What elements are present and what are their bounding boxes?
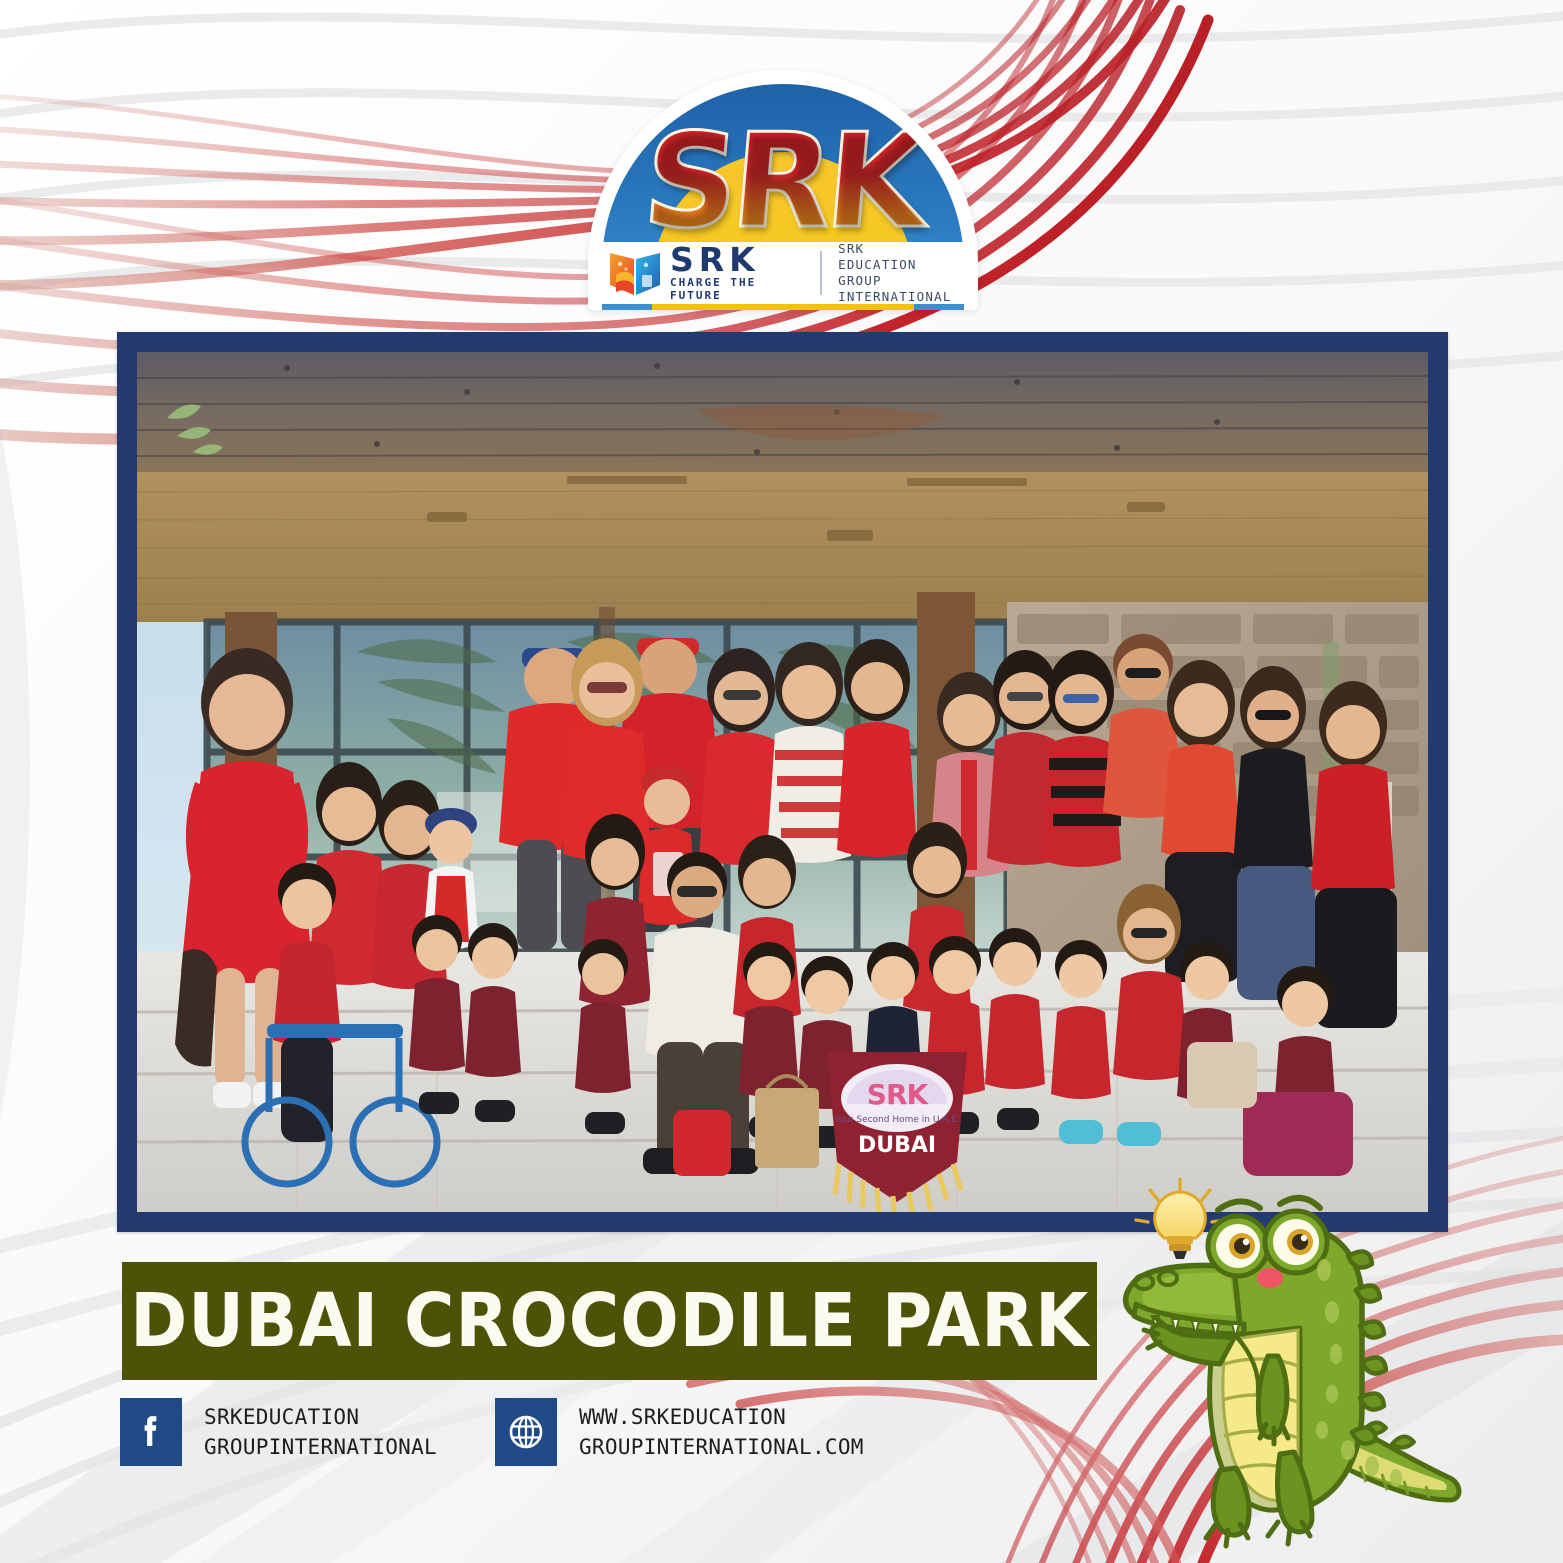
facebook-handle-line1: SRKEDUCATION xyxy=(204,1405,359,1429)
logo-small-wordmark: SRK xyxy=(670,245,804,275)
photo-frame: SRK Your Second Home in U.A.E. DUBAI xyxy=(117,332,1448,1232)
crocodile-mascot xyxy=(1110,1178,1510,1563)
page-title: DUBAI CROCODILE PARK xyxy=(130,1278,1089,1364)
facebook-handle-line2: GROUPINTERNATIONAL xyxy=(204,1435,437,1459)
logo-wordmark: SRK xyxy=(602,106,964,256)
logo-org-line-3: INTERNATIONAL xyxy=(838,289,958,305)
facebook-handle: SRKEDUCATIONGROUPINTERNATIONAL xyxy=(204,1402,437,1462)
poster-canvas: SRK xyxy=(0,0,1563,1563)
title-banner: DUBAI CROCODILE PARK xyxy=(122,1262,1097,1380)
facebook-icon[interactable] xyxy=(120,1398,182,1466)
logo-divider xyxy=(820,251,822,295)
logo-tagline: CHARGE THE FUTURE xyxy=(670,276,804,302)
facebook-contact[interactable]: SRKEDUCATIONGROUPINTERNATIONAL xyxy=(120,1398,437,1466)
logo-org-line-1: SRK xyxy=(838,241,958,257)
website-contact[interactable]: WWW.SRKEDUCATIONGROUPINTERNATIONAL.COM xyxy=(495,1398,864,1466)
globe-icon[interactable] xyxy=(495,1398,557,1466)
footer-contacts: SRKEDUCATIONGROUPINTERNATIONAL WWW.SRKED… xyxy=(120,1398,864,1466)
logo-strip: SRK CHARGE THE FUTURE SRK EDUCATION GROU… xyxy=(602,242,964,304)
svg-text:SRK: SRK xyxy=(867,1078,930,1111)
book-shield-icon xyxy=(608,249,662,297)
website-url-line1: WWW.SRKEDUCATION xyxy=(579,1405,786,1429)
crocodile-illustration xyxy=(1110,1178,1510,1563)
website-url-line2: GROUPINTERNATIONAL.COM xyxy=(579,1435,864,1459)
srk-logo-badge: SRK xyxy=(588,70,978,310)
group-photo-illustration: SRK Your Second Home in U.A.E. DUBAI xyxy=(137,352,1428,1212)
group-photo: SRK Your Second Home in U.A.E. DUBAI xyxy=(137,352,1428,1212)
svg-text:DUBAI: DUBAI xyxy=(858,1133,936,1158)
logo-org-line-2: EDUCATION GROUP xyxy=(838,257,958,289)
website-url: WWW.SRKEDUCATIONGROUPINTERNATIONAL.COM xyxy=(579,1402,864,1462)
svg-text:Your Second Home in U.A.E.: Your Second Home in U.A.E. xyxy=(833,1115,959,1125)
